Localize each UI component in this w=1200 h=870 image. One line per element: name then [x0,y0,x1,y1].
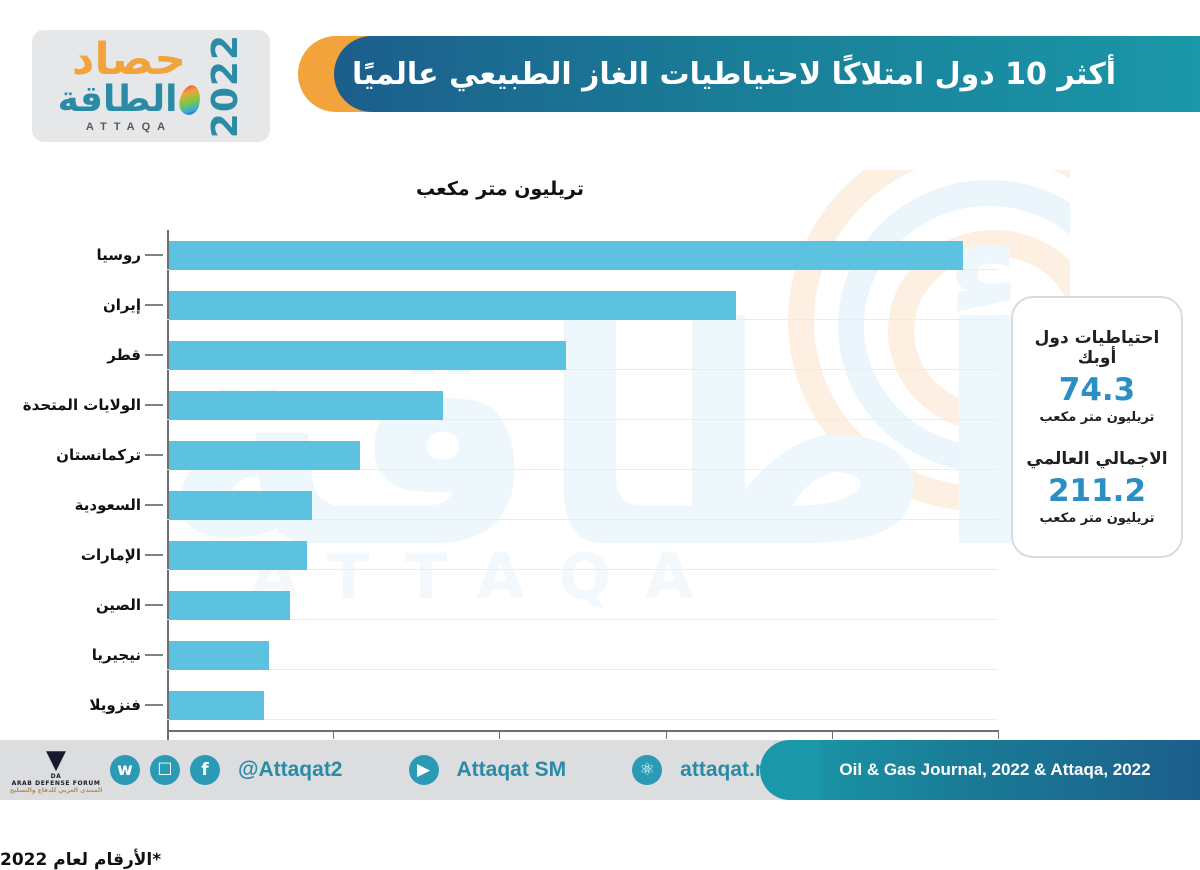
bar-4 [169,391,443,420]
dribbble-web-icon[interactable]: ⚛ [632,755,662,785]
category-label: تركمانستان [56,446,141,464]
footer: ▼ DA ARAB DEFENSE FORUM المنتدى العربي ل… [0,740,1200,800]
page-title: أكثر 10 دول امتلاكًا لاحتياطيات الغاز ال… [298,36,1200,112]
stat-world-value: 211.2 [1026,473,1167,510]
category-label: الإمارات [81,546,141,564]
y-axis-tick [145,654,163,656]
y-axis-tick [145,554,163,556]
logo-year: 2022 [208,34,244,138]
forum-name-ar: المنتدى العربي للدفاع والتسليح [10,787,102,794]
x-axis-tick [333,730,334,739]
stat-opec: احتياطيات دول أوبك 74.3 تريليون متر مكعب [1013,328,1181,425]
y-axis-tick [145,404,163,406]
bar-7 [169,541,307,570]
flame-icon [178,84,204,118]
category-label: قطر [107,346,141,364]
gridline [167,619,998,620]
source-banner: Oil & Gas Journal, 2022 & Attaqa, 2022 [790,740,1200,800]
header: 2022 حصاد الطاقة ATTAQA أكثر 10 دول امتل… [0,0,1200,148]
stat-world-unit: تريليون متر مكعب [1026,511,1167,526]
stat-world-label: الاجمالي العالمي [1026,449,1167,469]
logo-latin-text: ATTAQA [86,122,172,133]
social-handle-youtube[interactable]: Attaqat SM [457,758,567,782]
category-label: إيران [103,296,141,314]
y-axis-tick [145,604,163,606]
category-label: فنزويلا [89,696,141,714]
bar-3 [169,341,566,370]
arab-defense-forum-logo: ▼ DA ARAB DEFENSE FORUM المنتدى العربي ل… [8,742,104,798]
chart-plot-area: 01020304050روسياإيرانقطرالولايات المتحدة… [167,230,998,803]
youtube-icon[interactable]: ▶ [409,755,439,785]
y-axis-tick [145,254,163,256]
y-axis-tick [145,454,163,456]
stat-opec-value: 74.3 [1013,372,1181,409]
twitter-icon[interactable]: w [110,755,140,785]
bar-5 [169,441,360,470]
category-label: السعودية [75,496,141,514]
x-axis-tick [499,730,500,739]
category-label: نيجيريا [92,646,141,664]
facebook-icon[interactable]: f [190,755,220,785]
logo-word-attaqa: الطاقة [58,82,178,118]
y-axis-tick [145,354,163,356]
y-axis-tick [145,304,163,306]
source-text: Oil & Gas Journal, 2022 & Attaqa, 2022 [839,760,1150,780]
forum-mark: DA [51,773,62,780]
x-axis-tick [666,730,667,739]
forum-name-en: ARAB DEFENSE FORUM [12,780,101,787]
chart-footnote: *الأرقام لعام 2022 [0,850,1174,870]
social-handle-main[interactable]: @Attaqat2 [238,758,343,782]
bar-10 [169,691,264,720]
social-bar: w ☐ f @Attaqat2 ▶ Attaqat SM ⚛ attaqat.n… [110,740,792,800]
stats-card: احتياطيات دول أوبك 74.3 تريليون متر مكعب… [1011,296,1183,558]
y-axis-tick [145,504,163,506]
bar-9 [169,641,269,670]
chart-subtitle: تريليون متر مكعب [0,178,1000,200]
bar-1 [169,241,963,270]
wings-icon: ▼ [46,747,66,773]
bar-8 [169,591,290,620]
x-axis-tick [832,730,833,739]
x-axis-line [167,730,998,732]
instagram-icon[interactable]: ☐ [150,755,180,785]
chart: تريليون متر مكعب 01020304050روسياإيرانقط… [0,150,1000,710]
category-label: الولايات المتحدة [23,396,141,414]
bar-6 [169,491,312,520]
x-axis-tick [998,730,999,739]
title-banner: أكثر 10 دول امتلاكًا لاحتياطيات الغاز ال… [298,36,1200,112]
stat-opec-unit: تريليون متر مكعب [1013,410,1181,425]
category-label: روسيا [97,246,141,264]
gridline [167,669,998,670]
bar-2 [169,291,736,320]
category-label: الصين [96,596,141,614]
attaqa-logo[interactable]: 2022 حصاد الطاقة ATTAQA [32,30,270,142]
infographic-page: أطاقة ATTAQA 2022 حصاد الطاقة ATTAQA أكث… [0,0,1200,800]
x-axis-tick [167,730,168,739]
logo-word-hasad: حصاد [72,38,186,82]
stat-world: الاجمالي العالمي 211.2 تريليون متر مكعب [1026,449,1167,526]
y-axis-tick [145,704,163,706]
stat-opec-label: احتياطيات دول أوبك [1013,328,1181,368]
gridline [167,719,998,720]
